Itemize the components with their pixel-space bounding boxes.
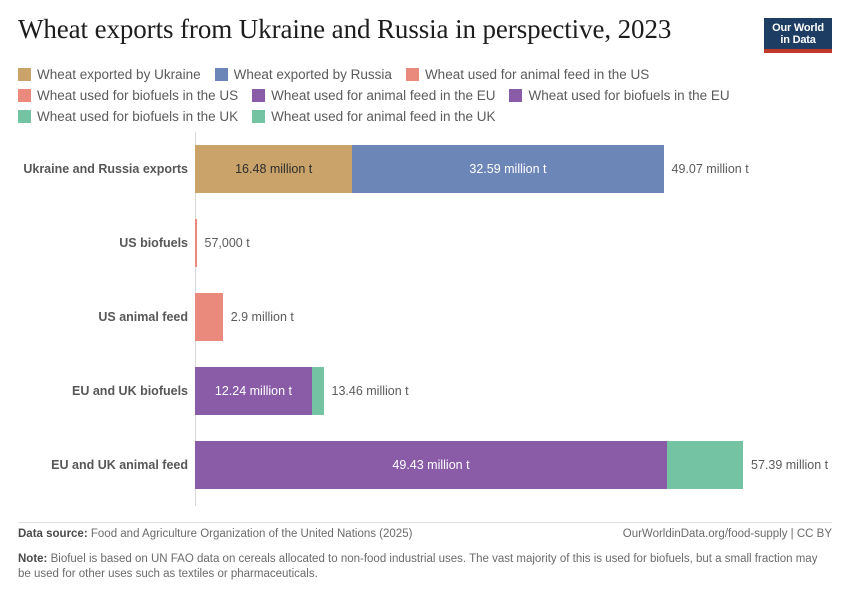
bar-total-label: 57.39 million t [751, 458, 828, 472]
footer-note-text: Biofuel is based on UN FAO data on cerea… [18, 553, 817, 580]
legend-label: Wheat used for biofuels in the EU [528, 89, 729, 103]
legend-item-russia-exports[interactable]: Wheat exported by Russia [215, 68, 392, 82]
bar-track: 12.24 million t [195, 367, 324, 415]
legend-swatch-us-biofuels [18, 89, 31, 102]
legend-label: Wheat used for animal feed in the EU [271, 89, 495, 103]
bar-track: 16.48 million t32.59 million t [195, 145, 664, 193]
bar-segment[interactable]: 12.24 million t [195, 367, 312, 415]
data-source-prefix: Data source: [18, 528, 88, 540]
bar-total-label: 13.46 million t [332, 384, 409, 398]
bar-category-label: Ukraine and Russia exports [23, 162, 188, 176]
legend-label: Wheat used for animal feed in the US [425, 68, 649, 82]
bar-row[interactable]: US biofuels57,000 t [0, 206, 850, 280]
legend-label: Wheat used for biofuels in the US [37, 89, 238, 103]
bar-track: 49.43 million t [195, 441, 743, 489]
bar-category-label: EU and UK biofuels [72, 384, 188, 398]
bar-segment[interactable] [195, 293, 223, 341]
bar-segment[interactable]: 32.59 million t [352, 145, 663, 193]
legend-item-eu-animal-feed[interactable]: Wheat used for animal feed in the EU [252, 89, 495, 103]
bar-segment[interactable] [195, 219, 197, 267]
bar-track [195, 219, 197, 267]
owid-logo-line2: in Data [768, 34, 828, 46]
legend-item-eu-biofuels[interactable]: Wheat used for biofuels in the EU [509, 89, 729, 103]
bar-category-label: US animal feed [98, 310, 188, 324]
bar-row[interactable]: EU and UK biofuels12.24 million t13.46 m… [0, 354, 850, 428]
bar-category-label: EU and UK animal feed [51, 458, 188, 472]
legend-row: Wheat exported by UkraineWheat exported … [18, 64, 833, 85]
footer-note-prefix: Note: [18, 553, 47, 565]
bar-row[interactable]: EU and UK animal feed49.43 million t57.3… [0, 428, 850, 502]
legend-swatch-russia-exports [215, 68, 228, 81]
legend-row: Wheat used for biofuels in the USWheat u… [18, 85, 833, 106]
bar-segment[interactable] [667, 441, 743, 489]
legend-item-us-biofuels[interactable]: Wheat used for biofuels in the US [18, 89, 238, 103]
bar-total-label: 2.9 million t [231, 310, 294, 324]
legend-item-us-animal-feed[interactable]: Wheat used for animal feed in the US [406, 68, 649, 82]
footer-divider [18, 522, 832, 523]
footer-note: Note: Biofuel is based on UN FAO data on… [18, 552, 818, 582]
bar-segment-label: 16.48 million t [231, 163, 316, 176]
bar-segment[interactable] [312, 367, 324, 415]
bar-segment[interactable]: 49.43 million t [195, 441, 667, 489]
legend-label: Wheat used for animal feed in the UK [271, 110, 495, 124]
legend-row: Wheat used for biofuels in the UKWheat u… [18, 106, 833, 127]
owid-logo[interactable]: Our World in Data [764, 18, 832, 53]
owid-logo-line1: Our World [768, 22, 828, 34]
chart-footer: Data source: Food and Agriculture Organi… [18, 528, 832, 582]
bar-row[interactable]: Ukraine and Russia exports16.48 million … [0, 132, 850, 206]
bar-segment-label: 32.59 million t [465, 163, 550, 176]
chart-page: Wheat exports from Ukraine and Russia in… [0, 0, 850, 600]
legend-label: Wheat exported by Ukraine [37, 68, 201, 82]
data-source: Data source: Food and Agriculture Organi… [18, 528, 412, 540]
bar-segment[interactable]: 16.48 million t [195, 145, 352, 193]
legend-swatch-uk-animal-feed [252, 110, 265, 123]
legend-item-uk-biofuels[interactable]: Wheat used for biofuels in the UK [18, 110, 238, 124]
legend-swatch-ukraine-exports [18, 68, 31, 81]
bar-track [195, 293, 223, 341]
chart-header: Wheat exports from Ukraine and Russia in… [18, 12, 832, 58]
bar-row[interactable]: US animal feed2.9 million t [0, 280, 850, 354]
legend-item-ukraine-exports[interactable]: Wheat exported by Ukraine [18, 68, 201, 82]
legend-swatch-eu-animal-feed [252, 89, 265, 102]
data-source-text: Food and Agriculture Organization of the… [91, 528, 413, 540]
footer-top-line: Data source: Food and Agriculture Organi… [18, 528, 832, 546]
bar-total-label: 57,000 t [205, 236, 250, 250]
legend-swatch-us-animal-feed [406, 68, 419, 81]
legend-item-uk-animal-feed[interactable]: Wheat used for animal feed in the UK [252, 110, 495, 124]
legend-label: Wheat used for biofuels in the UK [37, 110, 238, 124]
bar-segment-label: 49.43 million t [388, 459, 473, 472]
legend-swatch-eu-biofuels [509, 89, 522, 102]
bar-category-label: US biofuels [119, 236, 188, 250]
chart-plot-area: Ukraine and Russia exports16.48 million … [0, 132, 850, 514]
bar-segment-label: 12.24 million t [211, 385, 296, 398]
page-title: Wheat exports from Ukraine and Russia in… [18, 14, 671, 45]
chart-legend: Wheat exported by UkraineWheat exported … [18, 64, 833, 127]
bar-total-label: 49.07 million t [672, 162, 749, 176]
legend-swatch-uk-biofuels [18, 110, 31, 123]
owid-url-link[interactable]: OurWorldinData.org/food-supply | CC BY [623, 528, 832, 540]
legend-label: Wheat exported by Russia [234, 68, 392, 82]
